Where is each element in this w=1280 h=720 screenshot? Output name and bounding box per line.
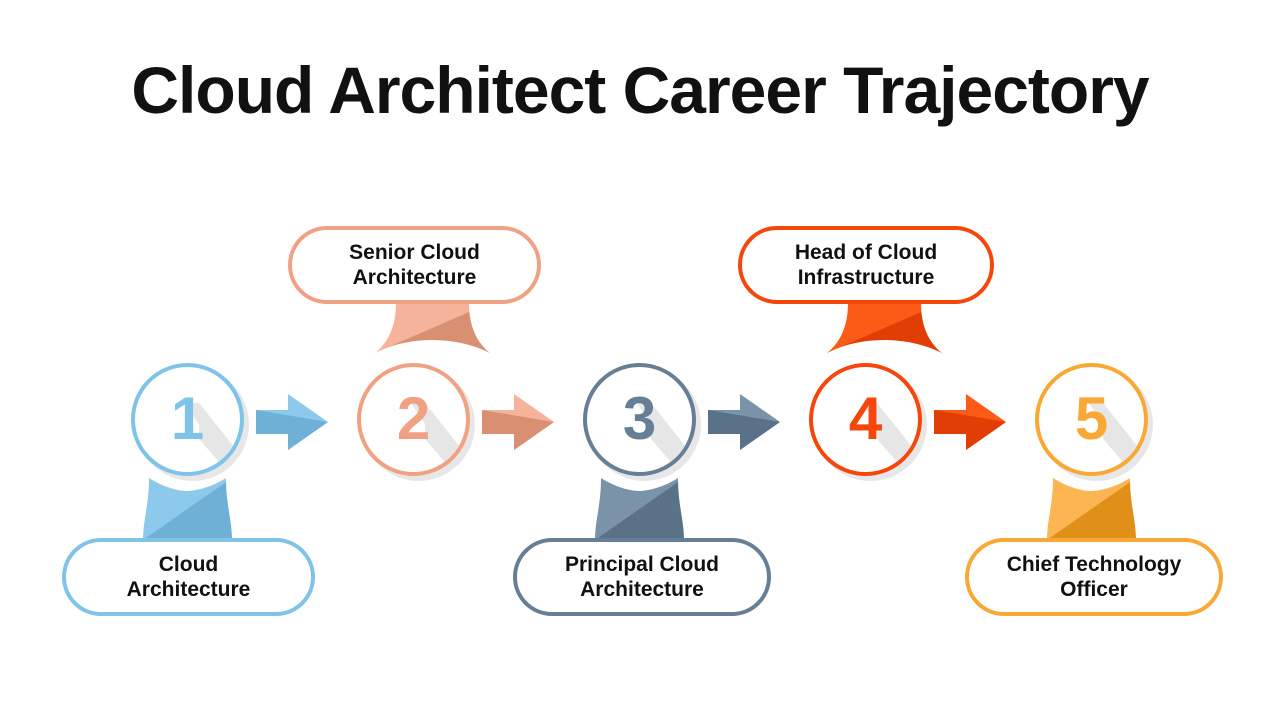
arrow-2-to-3[interactable] bbox=[482, 394, 558, 454]
career-trajectory-diagram: 1 Cloud Architecture bbox=[0, 0, 1280, 720]
arrow-4-to-5[interactable] bbox=[934, 394, 1010, 454]
step-5-label-line1: Chief Technology bbox=[1007, 552, 1182, 577]
step-2-label-pill[interactable]: Senior Cloud Architecture bbox=[288, 226, 541, 304]
step-2-label-line1: Senior Cloud bbox=[349, 240, 480, 265]
step-5-label-pill[interactable]: Chief Technology Officer bbox=[965, 538, 1223, 616]
step-2-circle[interactable]: 2 bbox=[357, 363, 470, 476]
step-3-number: 3 bbox=[587, 388, 692, 448]
step-2-number: 2 bbox=[361, 388, 466, 448]
step-5-number: 5 bbox=[1039, 388, 1144, 448]
step-3-circle[interactable]: 3 bbox=[583, 363, 696, 476]
step-1-circle[interactable]: 1 bbox=[131, 363, 244, 476]
step-4-circle[interactable]: 4 bbox=[809, 363, 922, 476]
step-3-label-line1: Principal Cloud bbox=[565, 552, 719, 577]
step-4-label-line2: Infrastructure bbox=[795, 265, 937, 290]
connector-step-2 bbox=[375, 303, 490, 367]
step-1-label-line2: Architecture bbox=[127, 577, 251, 602]
step-5-label-line2: Officer bbox=[1007, 577, 1182, 602]
step-2-label-line2: Architecture bbox=[349, 265, 480, 290]
connector-step-4 bbox=[827, 303, 942, 353]
arrow-3-to-4[interactable] bbox=[708, 394, 784, 454]
arrow-1-to-2[interactable] bbox=[256, 394, 332, 454]
step-3-label-line2: Architecture bbox=[565, 577, 719, 602]
step-1-label-pill[interactable]: Cloud Architecture bbox=[62, 538, 315, 616]
connector-step-5 bbox=[1047, 478, 1136, 540]
step-4-label-line1: Head of Cloud bbox=[795, 240, 937, 265]
step-5-circle[interactable]: 5 bbox=[1035, 363, 1148, 476]
step-4-number: 4 bbox=[813, 388, 918, 448]
step-4-label-pill[interactable]: Head of Cloud Infrastructure bbox=[738, 226, 994, 304]
connector-step-3 bbox=[595, 478, 684, 540]
step-1-label-line1: Cloud bbox=[127, 552, 251, 577]
step-3-label-pill[interactable]: Principal Cloud Architecture bbox=[513, 538, 771, 616]
connector-step-1 bbox=[143, 478, 232, 540]
step-1-number: 1 bbox=[135, 388, 240, 448]
